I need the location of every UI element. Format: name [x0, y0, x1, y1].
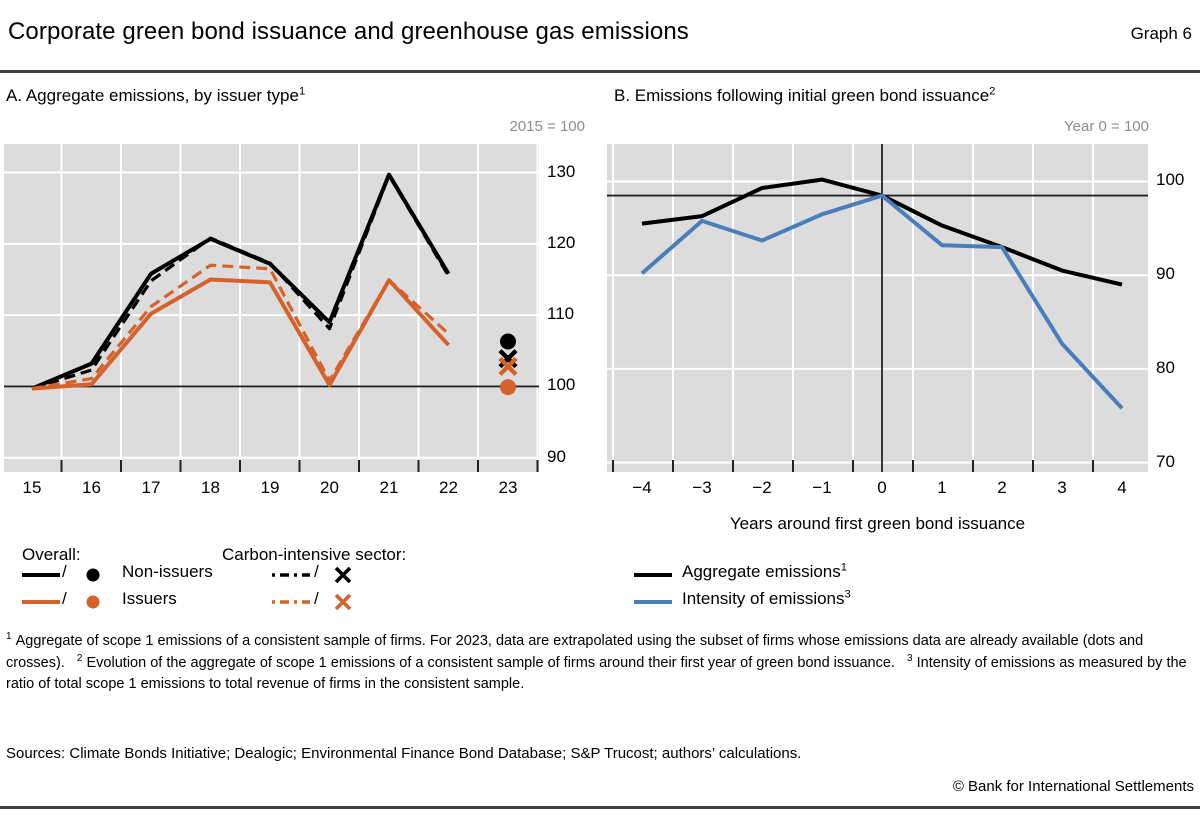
x-tick-label: 21: [359, 478, 419, 498]
x-tick-label: 20: [300, 478, 360, 498]
bottom-rule: [0, 806, 1200, 809]
y-tick-label: 100: [1156, 170, 1184, 190]
extrapolated-dot-marker: [500, 334, 516, 350]
legend-b-row2-text: Intensity of emissions: [682, 589, 845, 608]
panel-b-heading: B. Emissions following initial green bon…: [614, 86, 995, 106]
panel-a-plot-area: [4, 144, 539, 472]
y-tick-label: 130: [547, 162, 575, 182]
x-tick-label: 23: [478, 478, 538, 498]
y-tick-label: 70: [1156, 452, 1175, 472]
legend-b-row1-footnote-marker: 1: [841, 561, 847, 573]
legend-b-row2-label: Intensity of emissions3: [682, 589, 851, 609]
panel-b-units: Year 0 = 100: [900, 118, 1149, 135]
x-tick-label: 1: [912, 478, 972, 498]
extrapolated-dot-marker: [500, 379, 516, 395]
x-tick-label: 16: [62, 478, 122, 498]
x-tick-label: 17: [121, 478, 181, 498]
panel-b-plot-area: [607, 144, 1148, 472]
x-tick-label: 18: [181, 478, 241, 498]
panel-a-heading-footnote-marker: 1: [299, 85, 305, 97]
copyright-line: © Bank for International Settlements: [953, 778, 1194, 795]
y-tick-label: 90: [1156, 264, 1175, 284]
legend-a-row1-carbon-separator: /: [314, 562, 319, 582]
legend-a-row2-overall-swatch: [22, 590, 112, 614]
page-title: Corporate green bond issuance and greenh…: [8, 18, 689, 46]
legend-a-row1-label: Non-issuers: [122, 562, 213, 582]
x-tick-label: −3: [672, 478, 732, 498]
legend-b-row2-swatch: [634, 590, 676, 614]
panel-b-heading-text: B. Emissions following initial green bon…: [614, 86, 989, 105]
panel-b-x-axis-label: Years around first green bond issuance: [607, 514, 1148, 534]
graph-page: Corporate green bond issuance and greenh…: [0, 0, 1200, 815]
footnote-2-text: Evolution of the aggregate of scope 1 em…: [87, 655, 895, 671]
legend-b-row1-label: Aggregate emissions1: [682, 562, 847, 582]
legend-a-row1-separator: /: [62, 562, 67, 582]
legend-b-row1-swatch: [634, 563, 676, 587]
x-tick-label: 22: [419, 478, 479, 498]
x-tick-label: 19: [240, 478, 300, 498]
y-tick-label: 90: [547, 447, 566, 467]
header: Corporate green bond issuance and greenh…: [0, 18, 1200, 62]
legend-a-row2-separator: /: [62, 589, 67, 609]
panel-b-heading-footnote-marker: 2: [989, 85, 995, 97]
sources-line: Sources: Climate Bonds Initiative; Dealo…: [6, 745, 1192, 762]
x-tick-label: 2: [972, 478, 1032, 498]
y-tick-label: 80: [1156, 358, 1175, 378]
footnote-2-marker: 2: [77, 653, 83, 664]
footnotes: 1 Aggregate of scope 1 emissions of a co…: [6, 630, 1192, 695]
panel-a-units: 2015 = 100: [300, 118, 585, 135]
y-tick-label: 100: [547, 375, 575, 395]
legend-a-row2-carbon-separator: /: [314, 589, 319, 609]
panel-a-chart: [4, 144, 539, 472]
y-tick-label: 110: [547, 304, 574, 324]
x-tick-label: 4: [1092, 478, 1152, 498]
x-tick-label: 0: [852, 478, 912, 498]
x-tick-label: 3: [1032, 478, 1092, 498]
legend-b-row2-footnote-marker: 3: [845, 588, 851, 600]
panel-a-heading: A. Aggregate emissions, by issuer type1: [6, 86, 305, 106]
legend-a-row2-label: Issuers: [122, 589, 177, 609]
x-tick-label: 15: [2, 478, 62, 498]
x-tick-label: −1: [792, 478, 852, 498]
graph-number: Graph 6: [1131, 24, 1192, 44]
legend-a-head-overall: Overall:: [22, 545, 81, 565]
legend-b-row1-text: Aggregate emissions: [682, 562, 841, 581]
footnote-3-marker: 3: [907, 653, 913, 664]
top-rule: [0, 70, 1200, 73]
panel-b-chart: [607, 144, 1148, 472]
panel-a-heading-text: A. Aggregate emissions, by issuer type: [6, 86, 299, 105]
x-tick-label: −2: [732, 478, 792, 498]
y-tick-label: 120: [547, 233, 575, 253]
x-tick-label: −4: [612, 478, 672, 498]
legend-a-row1-overall-swatch: [22, 563, 112, 587]
footnote-1-marker: 1: [6, 631, 12, 642]
